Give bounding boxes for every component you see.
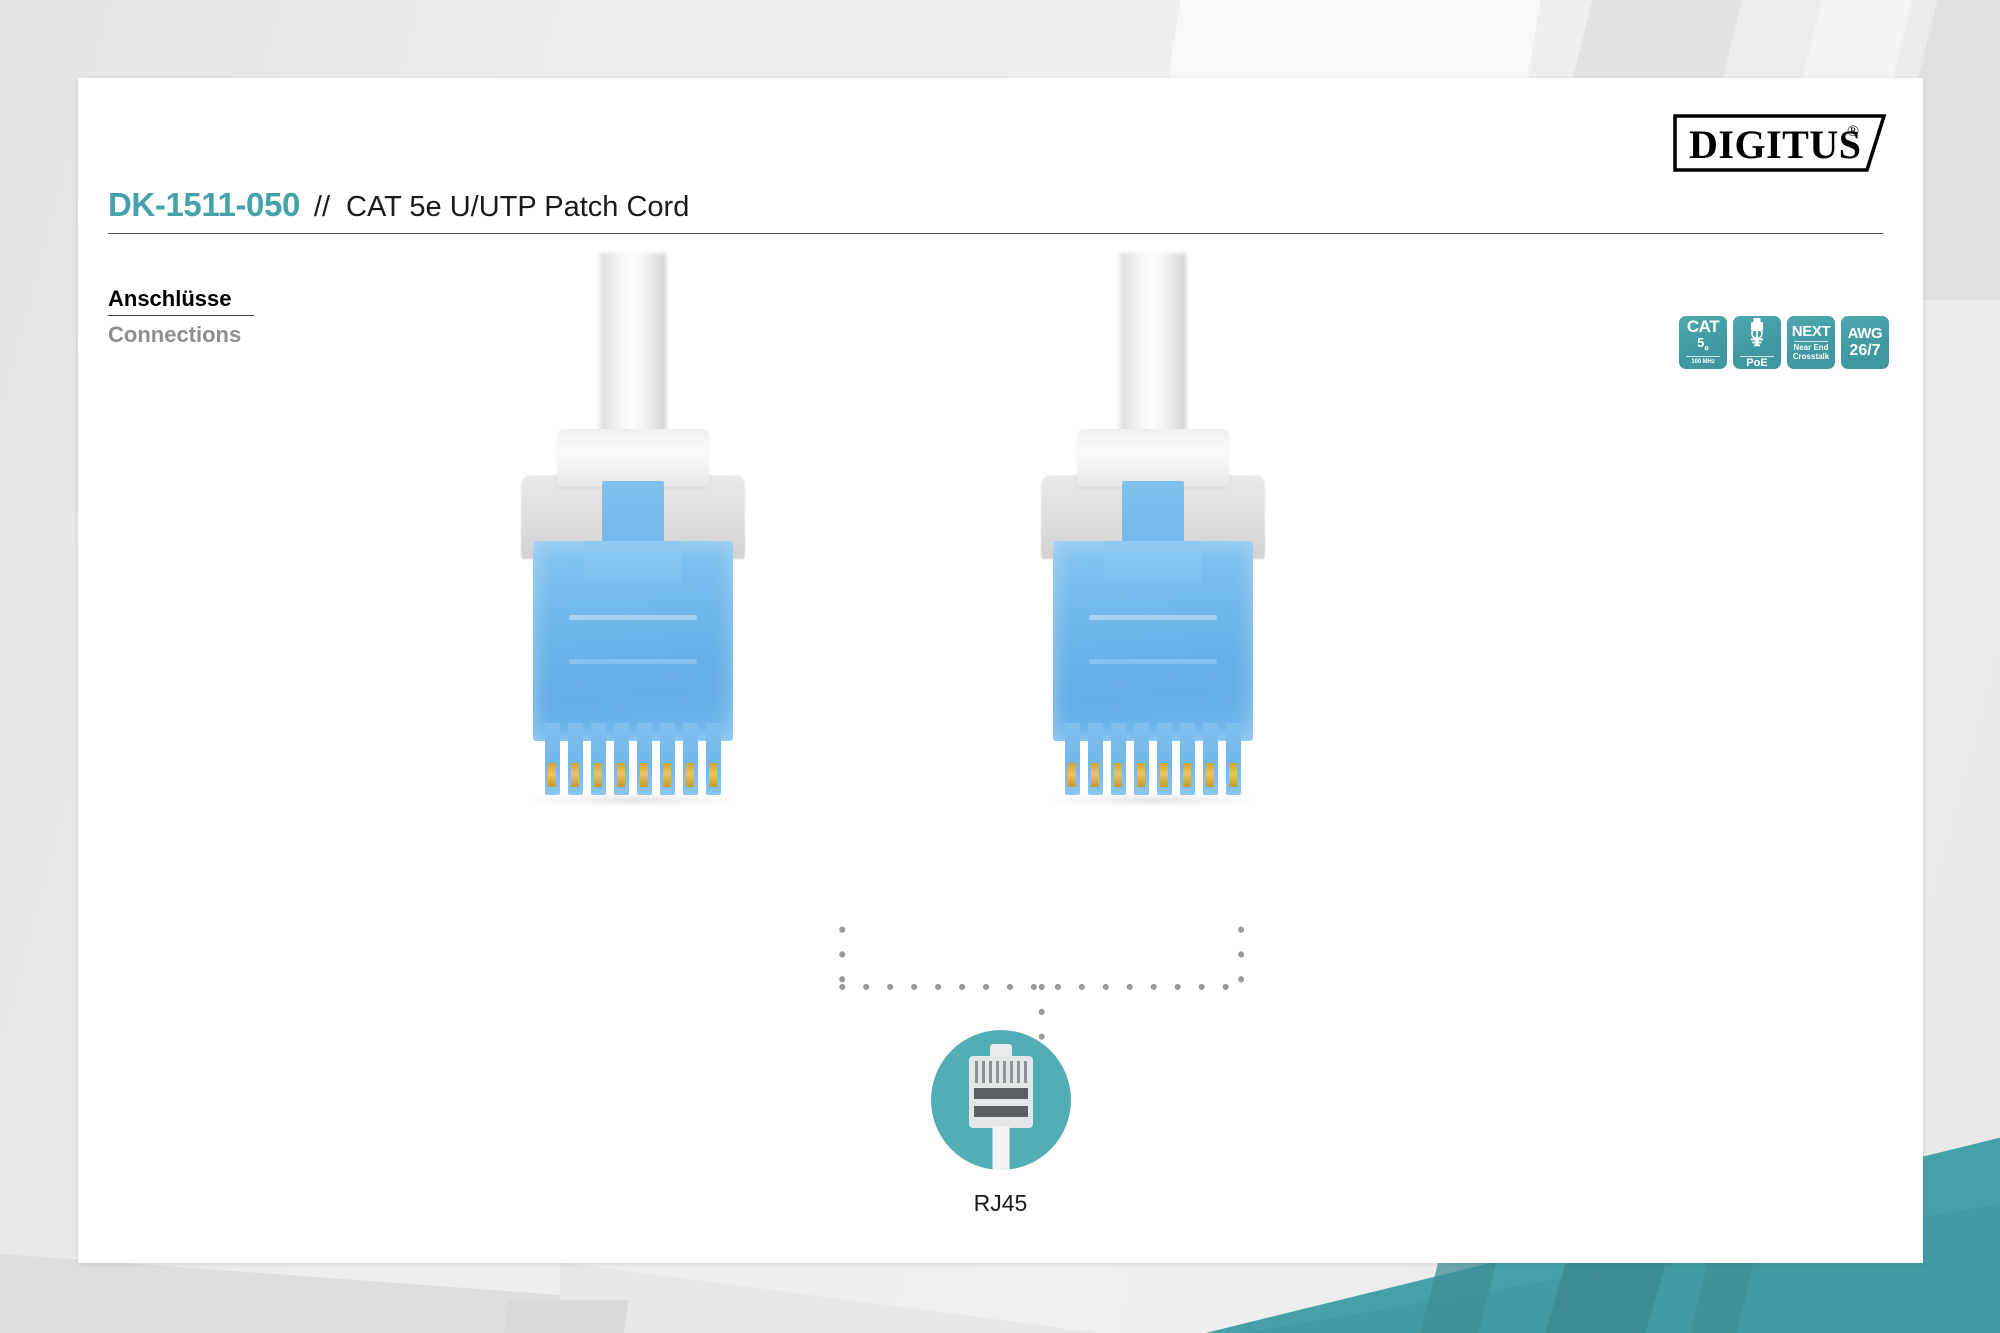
poe-badge: PoE: [1733, 316, 1781, 369]
cat-badge-divider: [1686, 356, 1720, 357]
pin: [660, 723, 675, 795]
pin: [545, 723, 560, 795]
product-photo: [418, 253, 1598, 833]
product-name: CAT 5e U/UTP Patch Cord: [346, 191, 689, 224]
section-underline: [108, 315, 254, 316]
plug-notch-left: [584, 541, 682, 583]
rj45-power-icon: [1747, 317, 1767, 354]
background-shape-g: [492, 1300, 629, 1333]
plug-body-right: [1053, 541, 1253, 741]
pin: [568, 723, 583, 795]
rj45-icon-bar-upper: [974, 1088, 1028, 1099]
rj45-icon-pin: [1003, 1061, 1006, 1083]
rj45-icon-pin: [1024, 1061, 1027, 1083]
rj45-plug-right: [1008, 253, 1298, 833]
svg-text:DIGITUS: DIGITUS: [1689, 122, 1861, 167]
rj45-plug-icon: [931, 1030, 1071, 1170]
pin: [614, 723, 629, 795]
rj45-icon-pin: [1017, 1061, 1020, 1083]
cable-right: [1120, 253, 1186, 443]
pin: [637, 723, 652, 795]
pin: [1226, 723, 1241, 795]
rj45-icon-pin: [1010, 1061, 1013, 1083]
section-title-de: Anschlüsse: [108, 286, 254, 312]
awg-badge-sub: 26/7: [1849, 342, 1880, 359]
strain-relief-boot-left: [557, 429, 709, 487]
pin: [1134, 723, 1149, 795]
title-separator: //: [314, 191, 330, 224]
plug-seam-right-1: [1089, 615, 1217, 620]
title-divider: [108, 233, 1883, 234]
plug-shadow-left: [528, 793, 738, 807]
plug-notch-right: [1104, 541, 1202, 583]
cat-badge-sub-e: e: [1704, 343, 1708, 352]
plug-body-left: [533, 541, 733, 741]
plug-seam-left-2: [569, 659, 697, 664]
cable-left: [600, 253, 666, 443]
plug-seam-right-2: [1089, 659, 1217, 664]
next-badge: NEXT Near End Crosstalk: [1787, 316, 1835, 369]
rj45-icon-pin: [982, 1061, 985, 1083]
datasheet-page: DIGITUS ® DK-1511-050 // CAT 5e U/UTP Pa…: [0, 0, 2000, 1333]
cat-badge-foot: 100 MHz: [1691, 358, 1714, 366]
rj45-icon-bar-lower: [974, 1106, 1028, 1117]
section-heading: Anschlüsse Connections: [108, 286, 254, 348]
strain-relief-boot-right: [1077, 429, 1229, 487]
rj45-icon-pin: [996, 1061, 999, 1083]
pin: [1065, 723, 1080, 795]
product-sku: DK-1511-050: [108, 186, 300, 224]
digitus-logo: DIGITUS ®: [1671, 108, 1889, 176]
content-card: DIGITUS ® DK-1511-050 // CAT 5e U/UTP Pa…: [78, 78, 1923, 1263]
rj45-icon-cable: [992, 1126, 1009, 1170]
plug-pins-left: [545, 723, 721, 795]
svg-text:®: ®: [1847, 123, 1859, 140]
rj45-icon-pins: [975, 1061, 1027, 1083]
rj45-icon-head: [969, 1056, 1033, 1128]
rj45-node: RJ45: [931, 1030, 1071, 1217]
pin: [1203, 723, 1218, 795]
next-badge-sub-1: Near End: [1793, 343, 1828, 352]
awg-badge: AWG 26/7: [1841, 316, 1889, 369]
section-title-en: Connections: [108, 322, 254, 348]
pin: [1180, 723, 1195, 795]
rj45-label: RJ45: [931, 1190, 1071, 1217]
cat-badge-top: CAT: [1687, 319, 1719, 335]
plug-shadow-right: [1048, 793, 1258, 807]
next-badge-sub-2: Crosstalk: [1793, 352, 1829, 361]
pin: [591, 723, 606, 795]
pin: [1157, 723, 1172, 795]
rj45-icon-pin: [975, 1061, 978, 1083]
next-badge-divider: [1794, 341, 1828, 342]
rj45-plug-left: [488, 253, 778, 833]
pin: [683, 723, 698, 795]
awg-badge-top: AWG: [1848, 326, 1883, 342]
plug-pins-right: [1065, 723, 1241, 795]
pin: [1088, 723, 1103, 795]
pin: [1111, 723, 1126, 795]
feature-badges: CAT 5e 100 MHz: [1679, 316, 1889, 369]
cat-badge-sub: 5e: [1697, 336, 1709, 355]
next-badge-top: NEXT: [1792, 324, 1830, 339]
cat-badge: CAT 5e 100 MHz: [1679, 316, 1727, 369]
poe-badge-label: PoE: [1746, 358, 1767, 369]
pin: [706, 723, 721, 795]
product-title-row: DK-1511-050 // CAT 5e U/UTP Patch Cord: [108, 186, 1883, 234]
plug-seam-left-1: [569, 615, 697, 620]
rj45-icon-pin: [989, 1061, 992, 1083]
